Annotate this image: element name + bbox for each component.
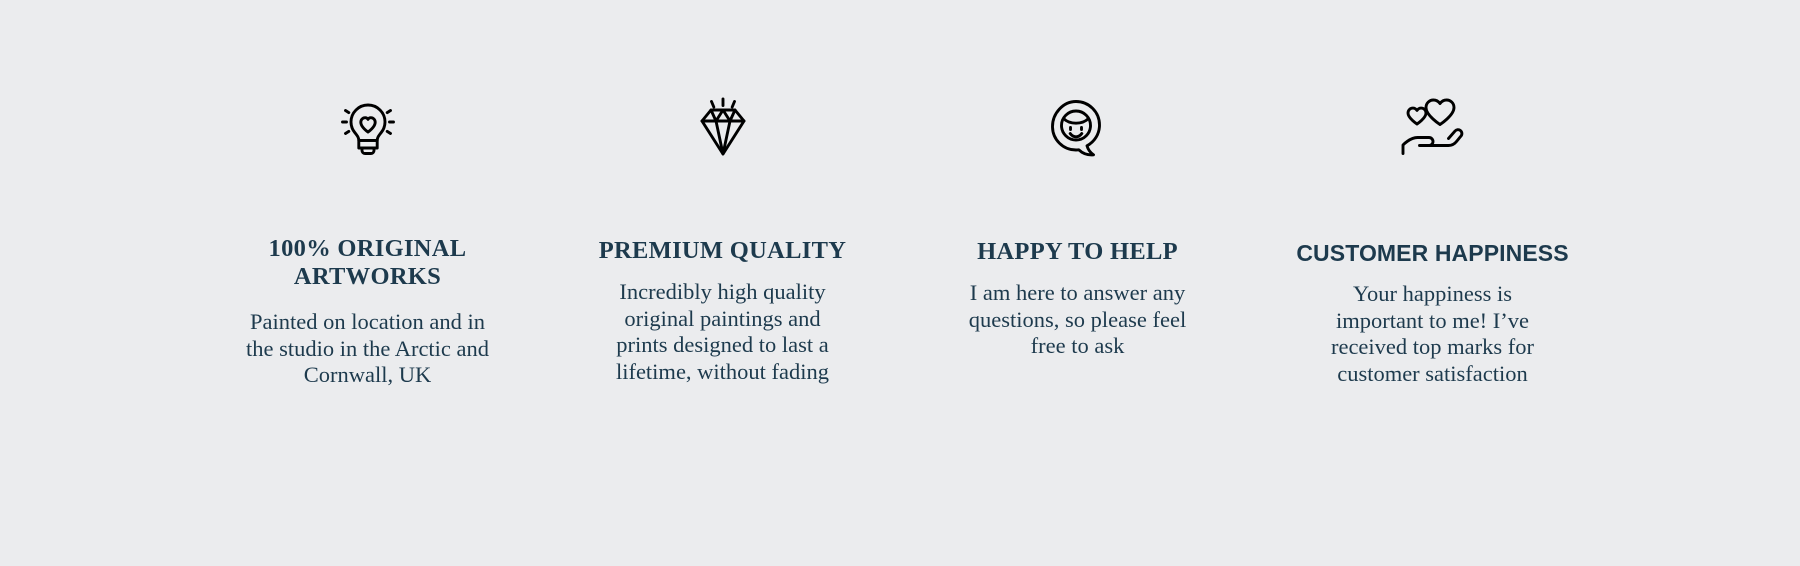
feature-title: CUSTOMER HAPPINESS: [1288, 239, 1576, 267]
smiley-speech-bubble-icon: [1047, 96, 1109, 162]
lightbulb-heart-icon: [337, 96, 399, 162]
feature-title: 100% ORIGINAL ARTWORKS: [230, 235, 506, 291]
feature-column-original-artworks: 100% ORIGINAL ARTWORKS Painted on locati…: [190, 96, 545, 389]
feature-description: Incredibly high quality original paintin…: [605, 279, 840, 385]
feature-column-customer-happiness: CUSTOMER HAPPINESS Your happiness is imp…: [1255, 96, 1610, 387]
feature-description: Your happiness is important to me! I’ve …: [1320, 281, 1545, 387]
hand-holding-hearts-icon: [1399, 96, 1467, 162]
feature-title: PREMIUM QUALITY: [591, 237, 854, 265]
feature-description: Painted on location and in the studio in…: [243, 309, 493, 389]
diamond-sparkle-icon: [692, 96, 754, 162]
features-section: 100% ORIGINAL ARTWORKS Painted on locati…: [0, 0, 1800, 566]
feature-description: I am here to answer any questions, so pl…: [960, 280, 1195, 360]
feature-column-premium-quality: PREMIUM QUALITY Incredibly high quality …: [545, 96, 900, 385]
feature-column-happy-to-help: HAPPY TO HELP I am here to answer any qu…: [900, 96, 1255, 360]
features-row: 100% ORIGINAL ARTWORKS Painted on locati…: [190, 96, 1610, 389]
feature-title: HAPPY TO HELP: [969, 238, 1186, 266]
